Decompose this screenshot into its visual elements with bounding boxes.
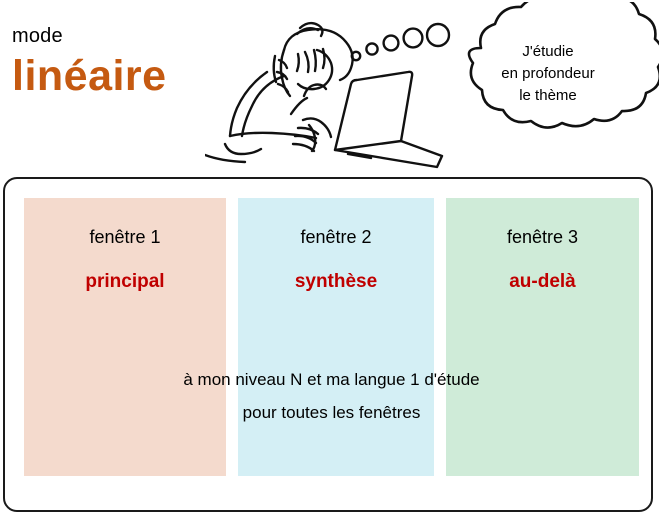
student-at-laptop-icon: [205, 4, 455, 176]
panel-2-label: fenêtre 2: [238, 227, 434, 248]
header: mode linéaire: [0, 0, 659, 176]
windows-card: fenêtre 1 principal fenêtre 2 synthèse f…: [3, 177, 653, 512]
mode-eyebrow-label: mode: [12, 26, 167, 46]
panel-3-label: fenêtre 3: [446, 227, 639, 248]
page-title: linéaire: [12, 55, 167, 98]
panel-fenetre-2[interactable]: fenêtre 2 synthèse: [238, 198, 434, 476]
panel-1-label: fenêtre 1: [24, 227, 226, 248]
thought-bubble: J'étudie en profondeur le thème: [437, 2, 659, 142]
panel-2-value: synthèse: [238, 271, 434, 293]
panel-1-value: principal: [24, 271, 226, 293]
panel-fenetre-1[interactable]: fenêtre 1 principal: [24, 198, 226, 476]
panel-fenetre-3[interactable]: fenêtre 3 au-delà: [446, 198, 639, 476]
title-block: mode linéaire: [12, 26, 167, 98]
panel-3-value: au-delà: [446, 271, 639, 293]
